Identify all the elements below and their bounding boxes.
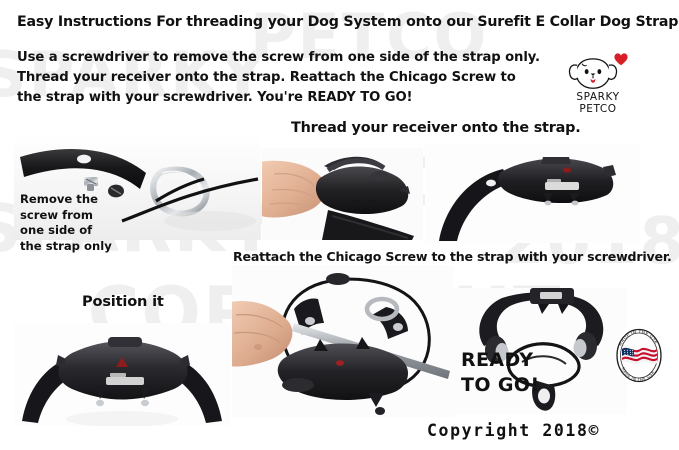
photo-position-collar — [14, 323, 230, 426]
caption-line: READY — [461, 348, 540, 373]
intro-line-2: Thread your receiver onto the strap. Rea… — [17, 68, 540, 88]
instruction-sheet: SPARKY PETCO SPARKY PETCO COPYRIGHT 2018… — [0, 0, 679, 450]
caption-line: Remove the — [20, 192, 112, 208]
photo-hand-receiver — [262, 148, 423, 240]
caption-line: one side of — [20, 223, 112, 239]
receiver-on-strap-illustration — [425, 145, 640, 243]
logo-text: SPARKY PETCO — [556, 92, 640, 115]
made-in-usa-badge: MADE IN THE USA MADE IN THE USA — [612, 327, 666, 384]
intro-line-3: the strap with your screwdriver. You're … — [17, 88, 540, 108]
photo-reattach-screwdriver — [232, 265, 454, 417]
page-title: Easy Instructions For threading your Dog… — [17, 14, 679, 30]
caption-remove-screw: Remove the screw from one side of the st… — [20, 192, 112, 254]
intro-paragraph: Use a screwdriver to remove the screw fr… — [17, 48, 540, 108]
heart-icon — [613, 52, 629, 66]
intro-line-1: Use a screwdriver to remove the screw fr… — [17, 48, 540, 68]
logo-line-2: PETCO — [556, 104, 640, 116]
caption-position-it: Position it — [82, 293, 164, 310]
dog-face-icon — [566, 54, 620, 94]
position-collar-illustration — [14, 323, 230, 426]
caption-ready-to-go: READY TO GO! — [461, 348, 540, 398]
caption-thread-receiver: Thread your receiver onto the strap. — [291, 120, 581, 136]
logo-line-1: SPARKY — [556, 92, 640, 104]
caption-reattach-screw: Reattach the Chicago Screw to the strap … — [233, 249, 672, 264]
copyright-text: Copyright 2018© — [427, 421, 600, 440]
reattach-illustration — [232, 265, 454, 417]
photo-receiver-on-strap — [425, 145, 640, 243]
caption-line: screw from — [20, 208, 112, 224]
sparky-petco-logo: SPARKY PETCO — [556, 52, 640, 114]
hand-receiver-illustration — [262, 148, 423, 240]
caption-line: TO GO! — [461, 373, 540, 398]
caption-line: the strap only — [20, 239, 112, 255]
